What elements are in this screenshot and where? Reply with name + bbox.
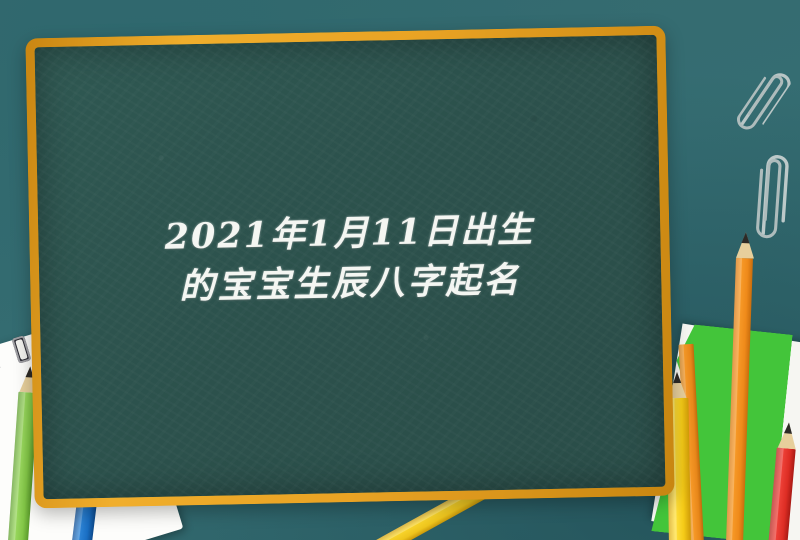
chalk-text-line-2: 的宝宝生辰八字起名 xyxy=(73,253,628,314)
chalkboard-text: 2021年1月11日出生 的宝宝生辰八字起名 xyxy=(38,203,662,315)
paperclip-vertical-icon xyxy=(755,147,791,241)
chalkboard-surface: 2021年1月11日出生 的宝宝生辰八字起名 xyxy=(35,35,666,499)
paperclip-diagonal-icon xyxy=(734,61,797,137)
chalkboard: 2021年1月11日出生 的宝宝生辰八字起名 xyxy=(25,26,674,509)
poster-canvas: 2021年1月11日出生 的宝宝生辰八字起名 xyxy=(0,0,800,540)
